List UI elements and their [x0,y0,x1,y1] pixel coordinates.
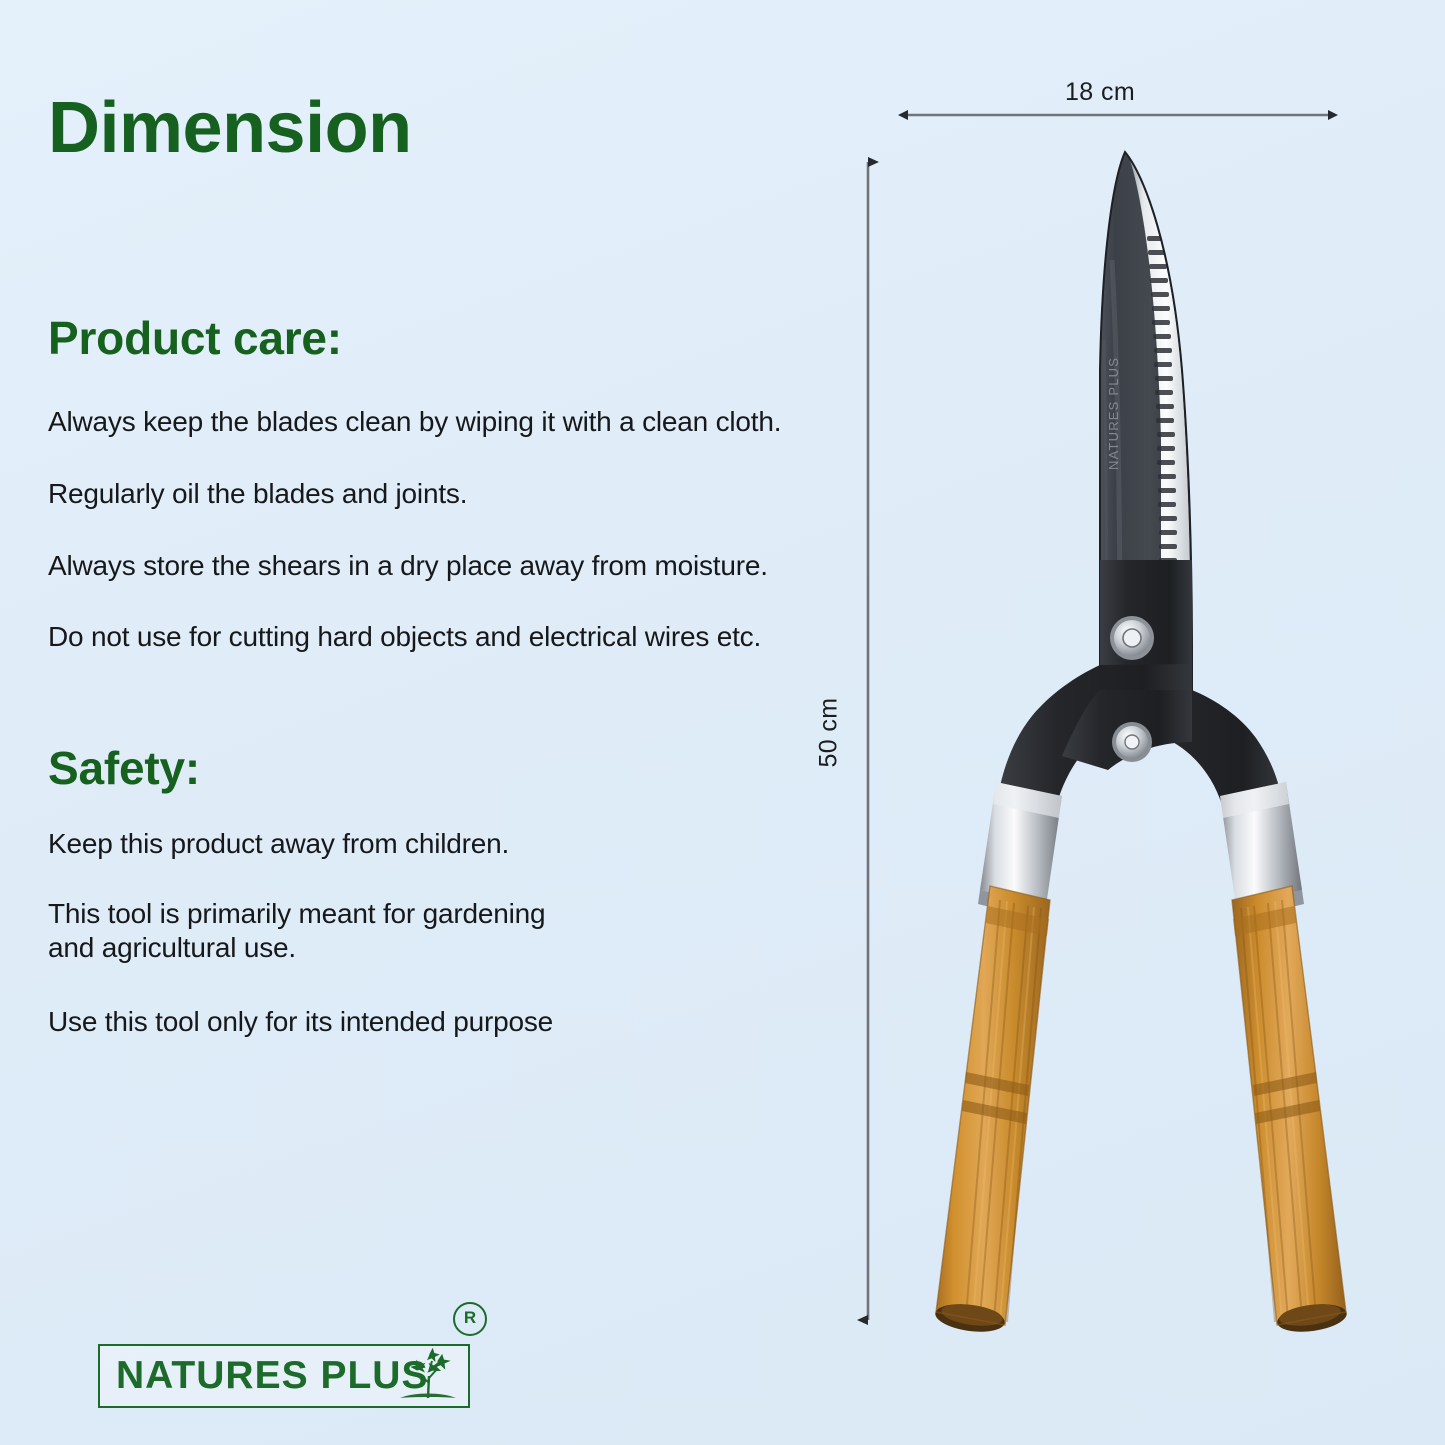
section-heading-product-care: Product care: [48,315,342,361]
product-care-item: Always store the shears in a dry place a… [48,549,768,583]
safety-item: Use this tool only for its intended purp… [48,1005,553,1039]
registered-trademark-icon: R [453,1302,487,1336]
handle-left [934,782,1062,1336]
safety-item: This tool is primarily meant for gardeni… [48,897,545,965]
blade-etched-brand: NATURES PLUS [1106,357,1121,470]
safety-item: Keep this product away from children. [48,827,509,861]
brand-logo: NATURES PLUS R [98,1336,488,1416]
logo-text: NATURES PLUS [116,1356,428,1395]
text-column: Dimension Product care: Always keep the … [44,0,804,1445]
section-heading-safety: Safety: [48,745,200,791]
product-care-item: Regularly oil the blades and joints. [48,477,467,511]
tree-icon [398,1348,458,1404]
handle-right [1220,782,1348,1336]
shear-body [1000,560,1282,812]
infographic-page: Dimension Product care: Always keep the … [0,0,1445,1445]
product-care-item: Do not use for cutting hard objects and … [48,620,761,654]
product-image-area: 18 cm 50 cm [800,0,1445,1445]
hedge-shears-illustration: NATURES PLUS [800,0,1445,1445]
product-care-item: Always keep the blades clean by wiping i… [48,405,781,439]
pivot-bolt-upper [1110,616,1154,660]
pivot-bolt-lower [1112,722,1152,762]
page-title: Dimension [48,92,412,164]
